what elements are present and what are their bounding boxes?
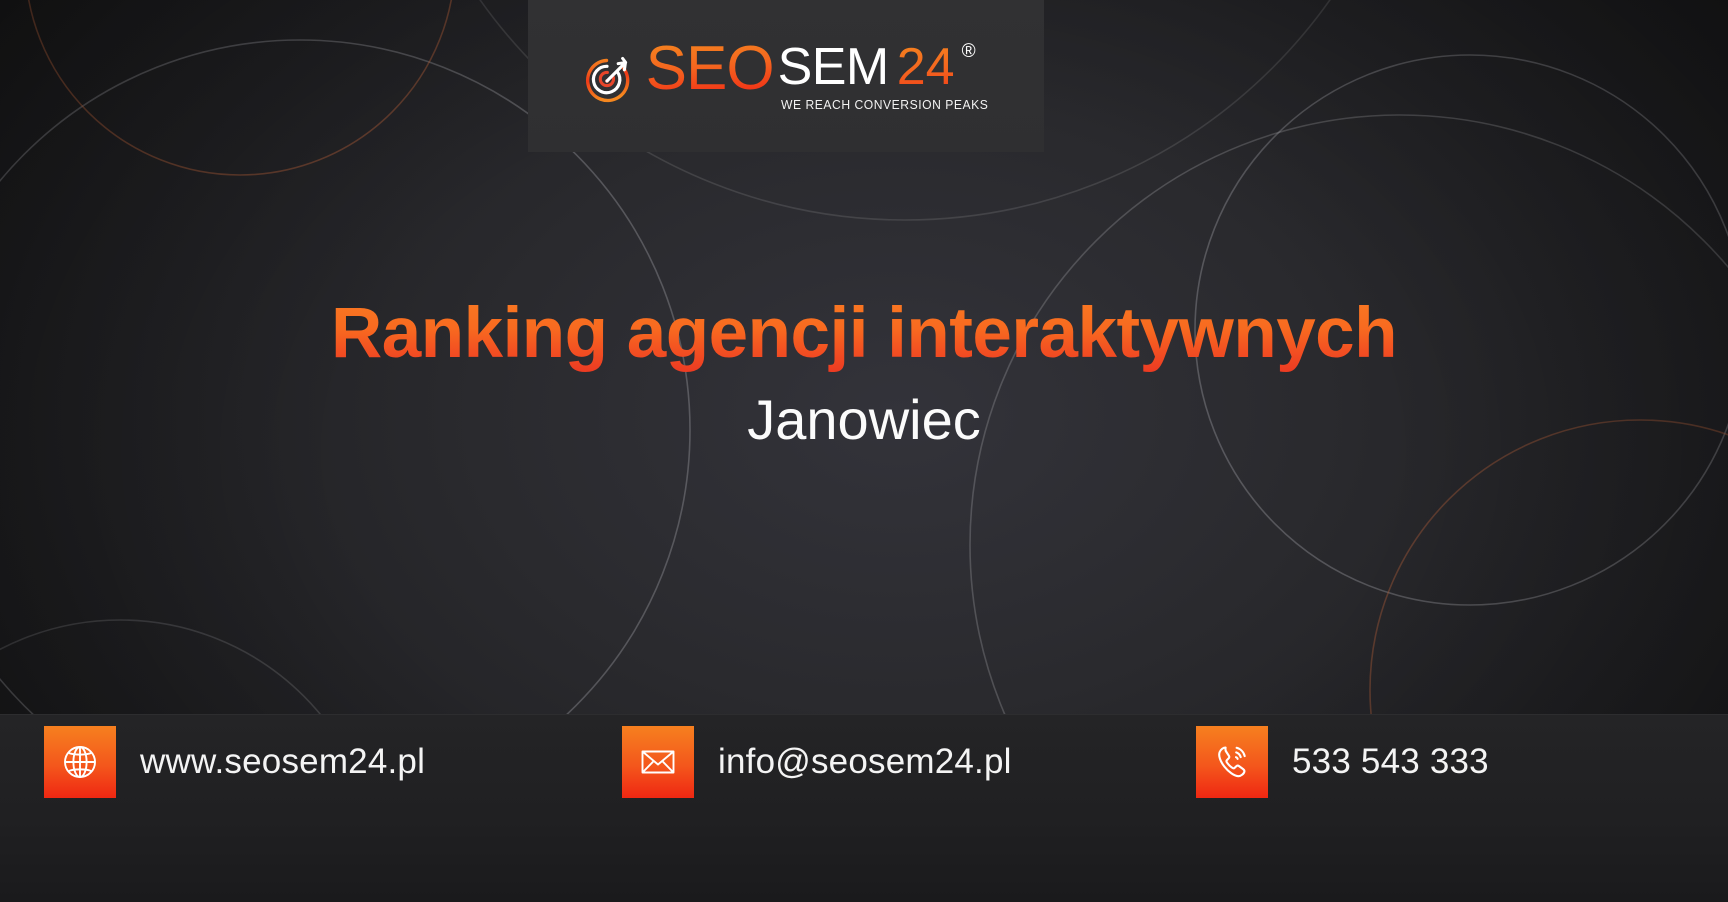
contact-email-label: info@seosem24.pl xyxy=(718,742,1012,782)
page-title: Ranking agencji interaktywnych xyxy=(0,296,1728,373)
logo-number-text: 24 xyxy=(897,40,955,95)
footer-contact-bar: www.seosem24.pl info@seosem24.pl xyxy=(0,714,1728,902)
contact-website-label: www.seosem24.pl xyxy=(140,742,425,782)
contact-item-phone[interactable]: 533 543 333 xyxy=(1196,726,1489,798)
registered-trademark-icon: ® xyxy=(962,42,976,61)
contact-item-website[interactable]: www.seosem24.pl xyxy=(44,726,425,798)
envelope-icon xyxy=(622,726,694,798)
phone-call-icon xyxy=(1196,726,1268,798)
contact-item-email[interactable]: info@seosem24.pl xyxy=(622,726,1012,798)
brand-logo-panel: SEO SEM 24 ® WE REACH CONVERSION PEAKS xyxy=(528,0,1044,152)
contact-phone-label: 533 543 333 xyxy=(1292,742,1489,782)
logo-sem-text: SEM xyxy=(778,40,889,95)
page-subtitle: Janowiec xyxy=(0,389,1728,451)
slide-canvas: SEO SEM 24 ® WE REACH CONVERSION PEAKS R… xyxy=(0,0,1728,902)
target-dart-icon xyxy=(578,52,635,109)
globe-icon xyxy=(44,726,116,798)
headline-block: Ranking agencji interaktywnych Janowiec xyxy=(0,296,1728,450)
logo-tagline: WE REACH CONVERSION PEAKS xyxy=(781,98,988,112)
logo-seo-text: SEO xyxy=(646,40,774,99)
